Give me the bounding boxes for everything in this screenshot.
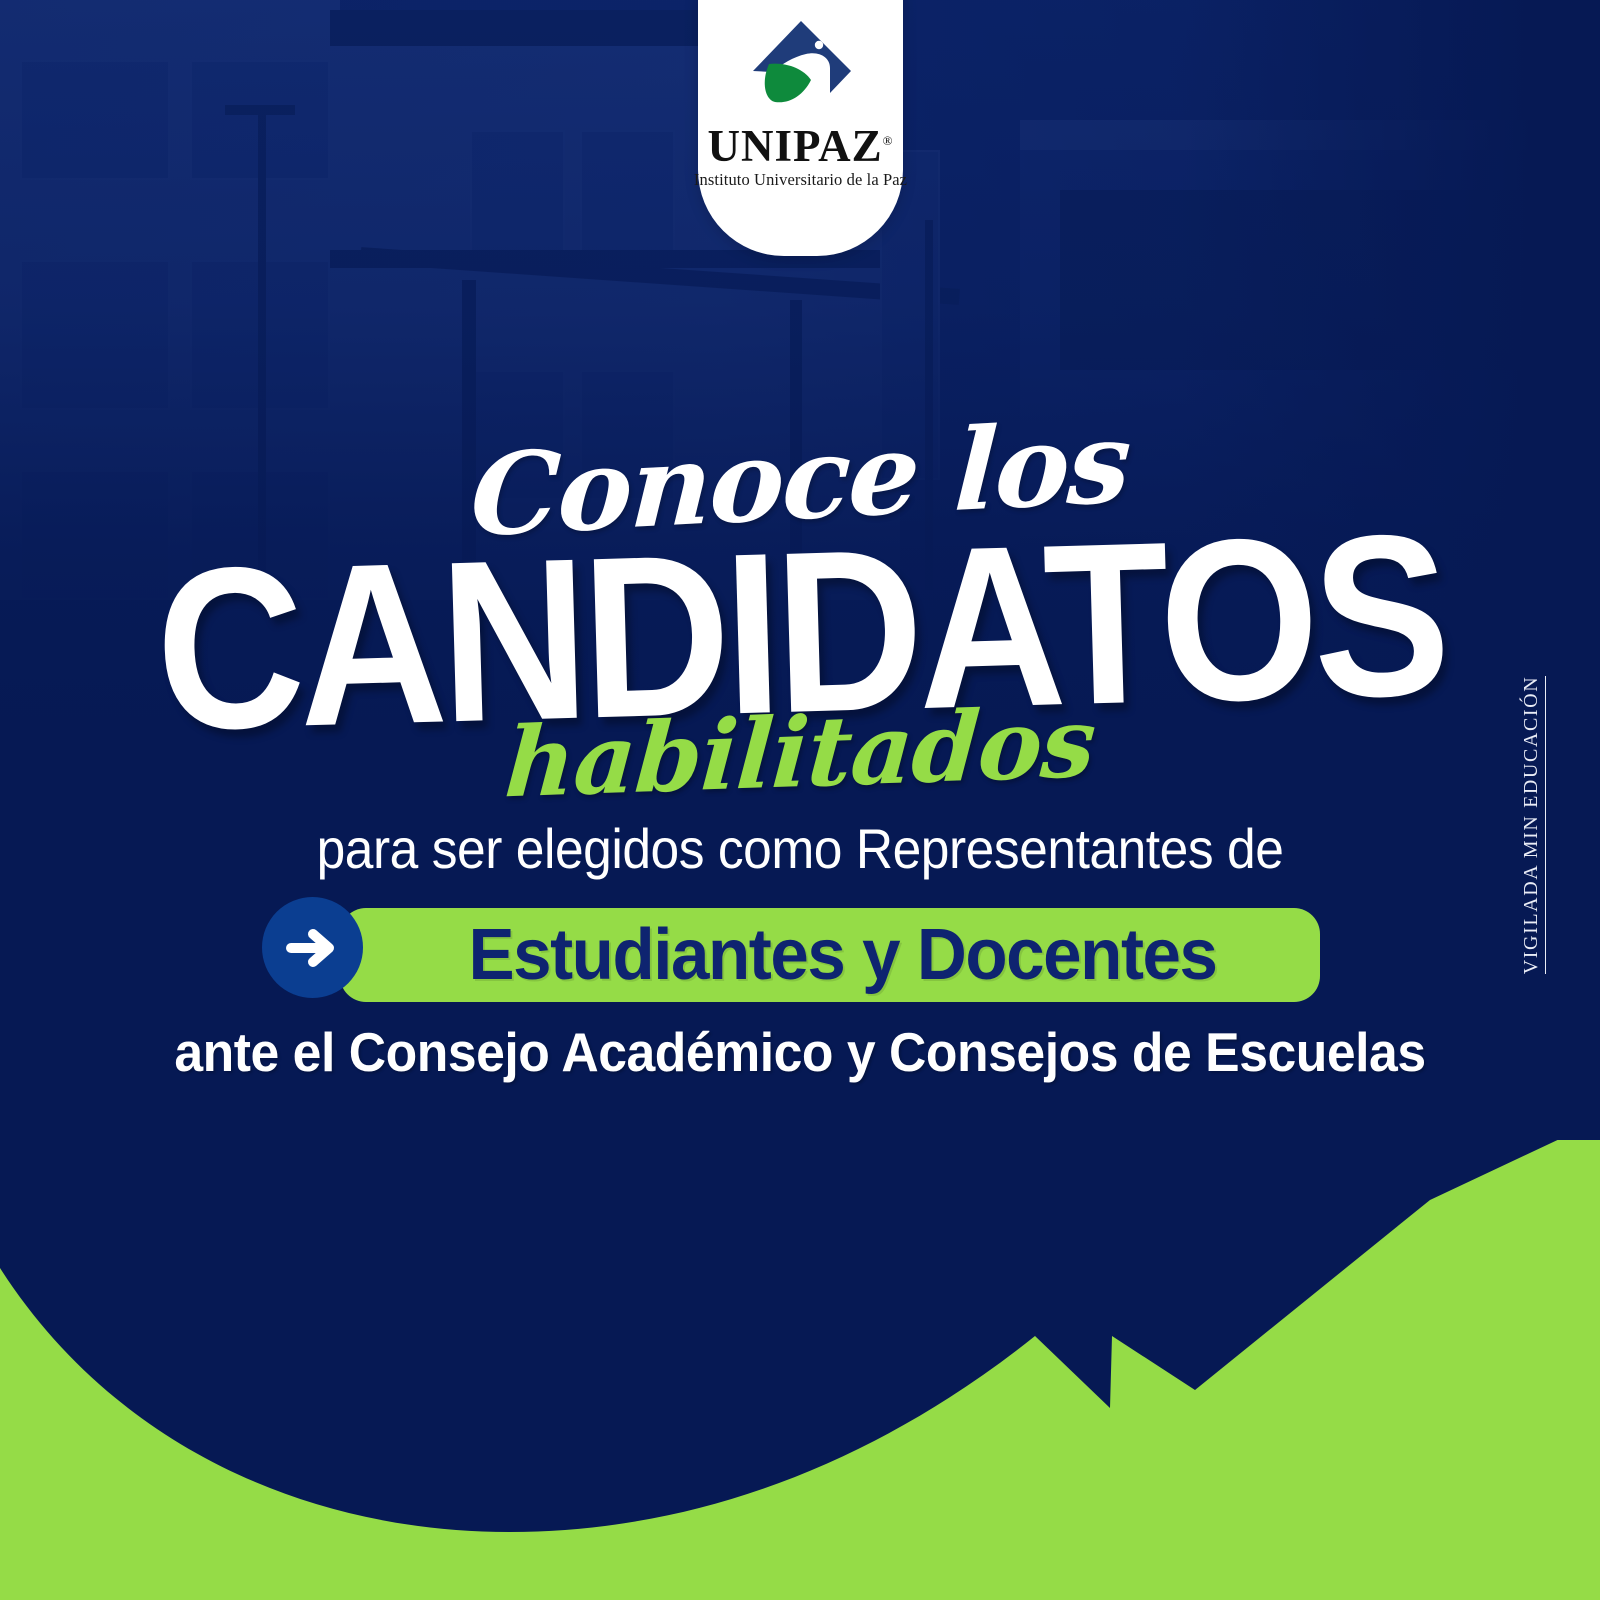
speech-bubble-shape [0, 1140, 1600, 1600]
poster-canvas: UNIPAZ® Instituto Universitario de la Pa… [0, 0, 1600, 1600]
vigilada-text: VIGILADA MIN EDUCACIÓN [1520, 676, 1546, 975]
vigilada-mineducacion-label: VIGILADA MIN EDUCACIÓN [1520, 660, 1543, 990]
highlight-pill-label: Estudiantes y Docentes [360, 908, 1301, 1002]
arrow-badge [262, 897, 363, 998]
subtitle-text: para ser elegidos como Representantes de [64, 818, 1536, 880]
headline-block: Conoce los CANDIDATOS habilitados para s… [0, 0, 1600, 1120]
arrow-right-icon [285, 920, 341, 976]
footer-text: ante el Consejo Académico y Consejos de … [48, 1022, 1552, 1083]
bottom-green-shape [0, 1140, 1600, 1600]
